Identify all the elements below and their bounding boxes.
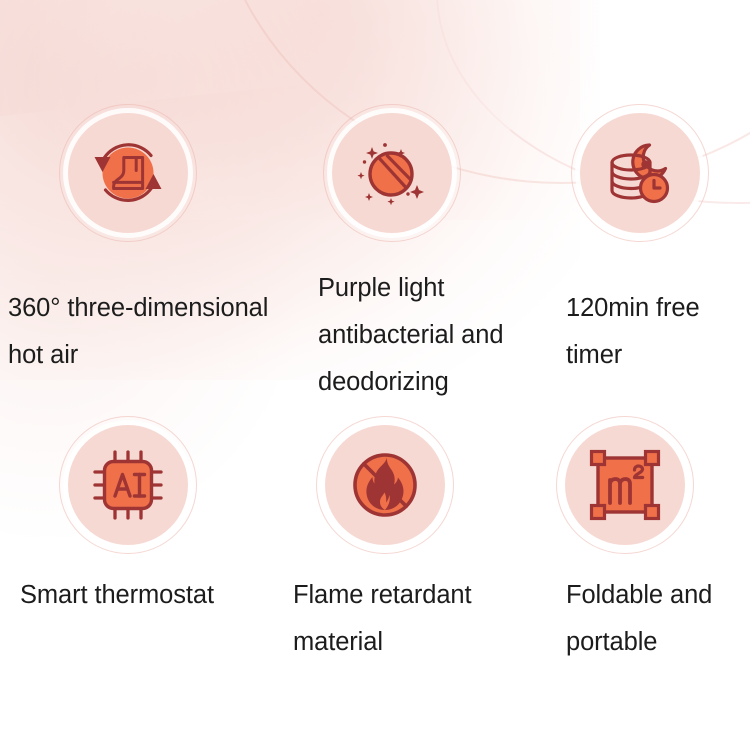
- feature-caption: 120min free timer: [566, 285, 750, 379]
- feature-icon-badge: [323, 104, 461, 242]
- feature-icon-badge: [59, 104, 197, 242]
- feature-icon-badge: [59, 416, 197, 554]
- boot-rotation-icon: [80, 125, 176, 221]
- feature-icon-badge: [571, 104, 709, 242]
- feature-grid: 360° three-dimensional hot air: [0, 0, 750, 750]
- ai-chip-icon: [80, 437, 176, 533]
- sparkling-sphere-icon: [344, 125, 440, 221]
- feature-caption: Smart thermostat: [20, 572, 320, 619]
- feature-highlight-panel: 360° three-dimensional hot air: [0, 0, 750, 750]
- feature-caption: Flame retardant material: [293, 572, 593, 666]
- timer-stack-moon-icon: [592, 125, 688, 221]
- feature-caption: 360° three-dimensional hot air: [8, 285, 308, 379]
- square-meter-icon: [577, 437, 673, 533]
- no-flame-icon: [337, 437, 433, 533]
- feature-icon-badge: [316, 416, 454, 554]
- feature-caption: Foldable and portable: [566, 572, 750, 666]
- feature-icon-badge: [556, 416, 694, 554]
